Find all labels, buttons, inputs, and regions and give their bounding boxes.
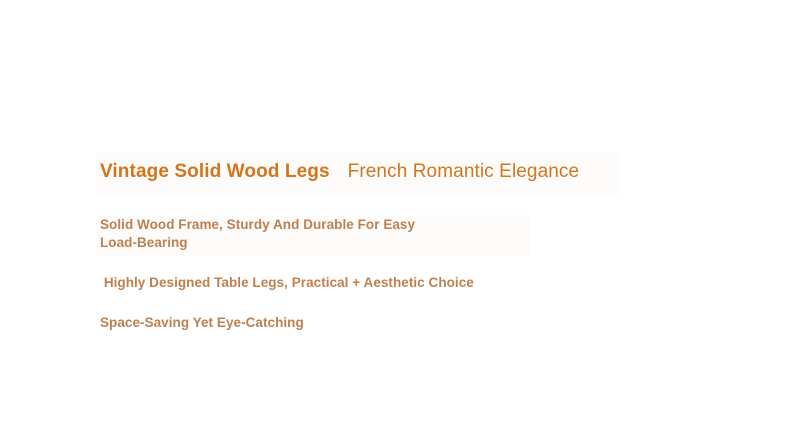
headline: Vintage Solid Wood LegsFrench Romantic E…: [100, 160, 579, 184]
feature-list: Solid Wood Frame, Sturdy And Durable For…: [100, 216, 570, 332]
headline-secondary: French Romantic Elegance: [348, 161, 580, 182]
feature-item-design: Highly Designed Table Legs, Practical + …: [100, 274, 570, 292]
headline-primary: Vintage Solid Wood Legs: [100, 161, 330, 182]
feature-item-durability: Solid Wood Frame, Sturdy And Durable For…: [100, 216, 452, 252]
product-feature-callout: Vintage Solid Wood LegsFrench Romantic E…: [0, 0, 790, 422]
feature-item-space-saving: Space-Saving Yet Eye-Catching: [100, 314, 570, 332]
